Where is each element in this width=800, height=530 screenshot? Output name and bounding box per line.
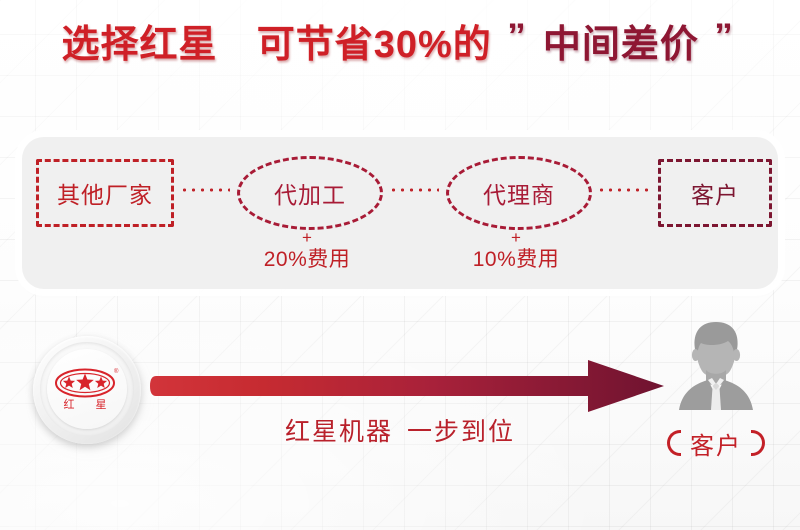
customer-badge-label: 客户 (690, 426, 742, 461)
fee-plus-sign-1: + (212, 229, 402, 247)
hongxing-star-logo-icon: ® 红 星 (52, 365, 122, 413)
fee-plus-sign-2: + (421, 229, 611, 247)
hongxing-logo-badge: ® 红 星 (33, 336, 141, 444)
quote-close-mark: ” (715, 19, 735, 53)
flow-node-other-factory-label: 其他厂家 (57, 176, 153, 210)
flow-node-agent-label: 代理商 (483, 176, 555, 210)
flow-node-contract-processing: 代加工 (237, 156, 383, 230)
tagline-part-2: 一步到位 (407, 418, 515, 446)
svg-text:®: ® (114, 368, 119, 375)
flow-diagram: 其他厂家 代加工 代理商 客户 + 20%费用 + 10%费用 (22, 137, 778, 289)
customer-figure (668, 318, 764, 422)
arrow-right-icon (148, 358, 670, 414)
fee-amount-2: 10%费用 (421, 249, 611, 272)
logo-char-left: 红 (64, 398, 75, 411)
logo-char-right: 星 (96, 398, 107, 411)
flow-node-other-factory: 其他厂家 (36, 159, 174, 227)
headline-part-2: 可节省30%的 (257, 26, 492, 64)
bracket-right-icon (751, 430, 765, 456)
fee-markup-agent: + 10%费用 (421, 229, 611, 272)
middleman-flow-panel: 其他厂家 代加工 代理商 客户 + 20%费用 + 10%费用 (22, 137, 778, 289)
headline-part-1: 选择红星 (62, 26, 218, 64)
customer-badge: 客户 (640, 426, 792, 460)
badge-inner-face: ® 红 星 (47, 349, 127, 429)
businessman-silhouette-icon (668, 318, 764, 422)
flow-node-customer-label: 客户 (691, 176, 739, 210)
bracket-left-icon (667, 430, 681, 456)
tagline-part-1: 红星机器 (285, 418, 393, 446)
headline: 选择红星 可节省30%的 ” 中间差价 ” (0, 26, 800, 64)
flow-node-contract-processing-label: 代加工 (274, 176, 346, 210)
fee-amount-1: 20%费用 (212, 249, 402, 272)
fee-markup-processing: + 20%费用 (212, 229, 402, 272)
tagline: 红星机器一步到位 (150, 412, 650, 448)
poster-canvas: 选择红星 可节省30%的 ” 中间差价 ” 其他厂家 代加工 代理商 客户 (0, 0, 800, 530)
quote-open-mark: ” (507, 19, 527, 53)
flow-node-agent: 代理商 (446, 156, 592, 230)
flow-connector-2 (389, 188, 439, 192)
flow-connector-1 (180, 188, 230, 192)
direct-sale-arrow (148, 358, 670, 414)
headline-emphasis: 中间差价 (543, 26, 699, 64)
flow-node-customer: 客户 (658, 159, 772, 227)
flow-connector-3 (597, 188, 653, 192)
